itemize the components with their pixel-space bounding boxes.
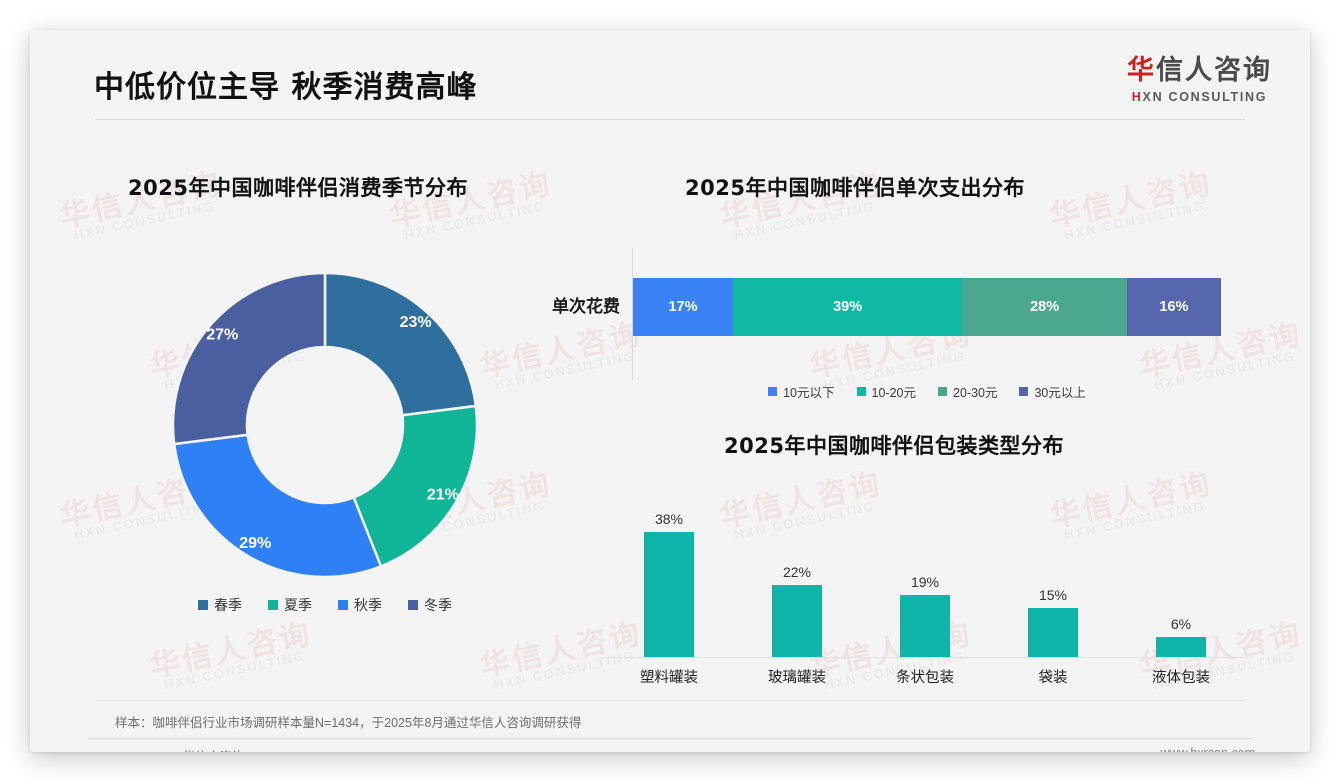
donut-slice-value: 27% [206,326,238,343]
page-title: 中低价位主导 秋季消费高峰 [94,62,477,106]
bar-rect[interactable] [772,585,822,657]
stacked-legend-item[interactable]: 30元以上 [1019,382,1085,401]
bar-chart-title: 2025年中国咖啡伴侣包装类型分布 [724,430,1064,460]
stacked-legend-label: 10-20元 [872,382,916,401]
logo-cn-red-char: 华 [1127,55,1156,86]
bar-category-label: 玻璃罐装 [733,660,861,690]
bar-column[interactable]: 22% [733,497,861,657]
legend-swatch-icon [338,600,348,610]
package-bar-chart: 38%22%19%15%6% 塑料罐装玻璃罐装条状包装袋装液体包装 [575,470,1265,690]
donut-slice-value: 21% [427,487,459,504]
slide-canvas: 华信人咨询HXN CONSULTING华信人咨询HXN CONSULTING华信… [30,30,1310,752]
donut-legend-item[interactable]: 冬季 [408,595,452,615]
bar-column[interactable]: 15% [989,497,1117,657]
donut-legend-label: 春季 [214,595,242,615]
logo-chinese-text: 华信人咨询 [1127,48,1272,87]
spend-stacked-chart: 单次花费 17%39%28%16% 10元以下10-20元20-30元30元以上 [500,240,1260,420]
bar-value-label: 6% [1171,616,1191,632]
stacked-bar-segment[interactable]: 16% [1127,278,1221,336]
bar-value-label: 15% [1039,587,1067,603]
donut-legend-item[interactable]: 春季 [198,595,242,615]
donut-slice[interactable] [173,273,325,444]
donut-legend-label: 夏季 [284,595,312,615]
donut-legend-label: 冬季 [424,595,452,615]
slide-header: 中低价位主导 秋季消费高峰 华信人咨询 HXN CONSULTING [30,30,1310,122]
legend-swatch-icon [768,387,777,396]
stacked-bar-segment[interactable]: 39% [733,278,962,336]
donut-legend-label: 秋季 [354,595,382,615]
bar-category-label: 液体包装 [1117,660,1245,690]
bar-rect[interactable] [900,595,950,657]
bar-column[interactable]: 6% [1117,497,1245,657]
donut-svg: 23%21%29%27% [160,260,490,590]
stacked-bar-track: 17%39%28%16% [633,278,1221,336]
donut-slice[interactable] [174,435,381,577]
bar-rect[interactable] [644,532,694,657]
legend-swatch-icon [1019,387,1028,396]
bar-column[interactable]: 38% [605,497,733,657]
donut-slice[interactable] [325,273,476,415]
stacked-chart-title: 2025年中国咖啡伴侣单次支出分布 [685,172,1025,202]
bar-column[interactable]: 19% [861,497,989,657]
bar-category-label: 条状包装 [861,660,989,690]
legend-swatch-icon [938,387,947,396]
company-logo: 华信人咨询 HXN CONSULTING [1127,48,1272,104]
stacked-legend-label: 10元以下 [783,382,834,401]
stacked-legend-label: 20-30元 [953,382,997,401]
legend-swatch-icon [268,600,278,610]
logo-english-text: HXN CONSULTING [1127,90,1272,104]
stacked-row-label: 单次花费 [500,292,620,317]
footnote-divider [95,700,1245,701]
stacked-legend: 10元以下10-20元20-30元30元以上 [633,382,1221,401]
donut-slice-value: 23% [400,314,432,331]
watermark-mark: 华信人咨询HXN CONSULTING [1047,168,1218,246]
bar-rect[interactable] [1156,637,1206,657]
logo-en-red-char: H [1132,90,1143,104]
logo-en-rest: XN CONSULTING [1143,90,1268,104]
stacked-legend-label: 30元以上 [1034,382,1085,401]
stacked-legend-item[interactable]: 10-20元 [857,382,916,401]
legend-swatch-icon [198,600,208,610]
website-link[interactable]: www.hxrcon.com [1161,746,1255,752]
stacked-bar-segment[interactable]: 17% [633,278,733,336]
footer-divider [88,738,1253,739]
stacked-legend-item[interactable]: 20-30元 [938,382,997,401]
legend-swatch-icon [857,387,866,396]
bar-value-label: 38% [655,511,683,527]
bar-value-label: 19% [911,574,939,590]
season-donut-chart: 23%21%29%27% 春季夏季秋季冬季 [130,255,520,655]
bar-value-label: 22% [783,564,811,580]
bar-category-labels: 塑料罐装玻璃罐装条状包装袋装液体包装 [605,660,1245,690]
header-divider [95,119,1245,120]
stacked-bar-segment[interactable]: 28% [962,278,1127,336]
donut-legend-item[interactable]: 秋季 [338,595,382,615]
bar-rect[interactable] [1028,608,1078,657]
bar-category-label: 袋装 [989,660,1117,690]
donut-chart-title: 2025年中国咖啡伴侣消费季节分布 [128,172,468,202]
bar-baseline [605,657,1245,658]
sample-footnote: 样本：咖啡伴侣行业市场调研样本量N=1434，于2025年8月通过华信人咨询调研… [115,712,581,731]
donut-legend: 春季夏季秋季冬季 [130,595,520,615]
donut-slice-value: 29% [239,535,271,552]
copyright-text: ©2025.10 HXR华信人咨询 [98,746,245,752]
donut-legend-item[interactable]: 夏季 [268,595,312,615]
logo-cn-rest: 信人咨询 [1156,55,1272,86]
legend-swatch-icon [408,600,418,610]
bar-category-label: 塑料罐装 [605,660,733,690]
bar-columns: 38%22%19%15%6% [605,497,1245,657]
stacked-legend-item[interactable]: 10元以下 [768,382,834,401]
